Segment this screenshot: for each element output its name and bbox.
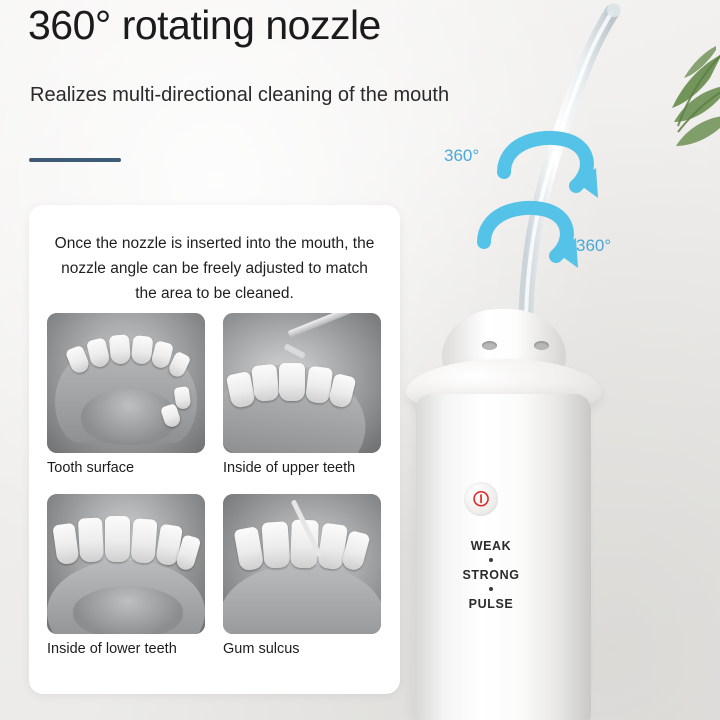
mode-label: WEAK	[436, 539, 546, 553]
power-icon: ⏼	[473, 489, 490, 510]
mode-dot-icon	[489, 587, 493, 591]
power-button[interactable]: ⏼	[464, 482, 498, 516]
thumbnail-caption: Inside of upper teeth	[223, 460, 381, 476]
info-card: Once the nozzle is inserted into the mou…	[29, 205, 400, 694]
mode-pulse[interactable]: PULSE	[436, 597, 546, 611]
mode-label: STRONG	[436, 568, 546, 582]
accent-rule	[29, 158, 121, 162]
card-paragraph: Once the nozzle is inserted into the mou…	[29, 231, 400, 306]
mode-label: PULSE	[436, 597, 546, 611]
thumbnail-grid: Tooth surface Inside of upper teeth	[47, 313, 382, 657]
thumbnail-item: Inside of upper teeth	[223, 313, 381, 476]
rotation-label-top: 360°	[444, 146, 479, 166]
thumbnail-caption: Tooth surface	[47, 460, 205, 476]
water-flosser-device: 360° 360° ⏼ WEAK STRONG PULSE	[398, 0, 720, 720]
thumbnail-item: Tooth surface	[47, 313, 205, 476]
inside-upper-teeth-photo	[223, 313, 381, 453]
page-subheadline: Realizes multi-directional cleaning of t…	[30, 84, 449, 107]
mode-strong[interactable]: STRONG	[436, 568, 546, 591]
product-infographic: 360° rotating nozzle Realizes multi-dire…	[0, 0, 720, 720]
nozzle-port-left	[482, 341, 497, 350]
inside-lower-teeth-photo	[47, 494, 205, 634]
mode-indicator-list: WEAK STRONG PULSE	[436, 539, 546, 617]
gum-sulcus-photo	[223, 494, 381, 634]
mode-dot-icon	[489, 558, 493, 562]
thumbnail-caption: Inside of lower teeth	[47, 641, 205, 657]
thumbnail-item: Gum sulcus	[223, 494, 381, 657]
thumbnail-item: Inside of lower teeth	[47, 494, 205, 657]
tooth-surface-photo	[47, 313, 205, 453]
rotation-label-bottom: 360°	[576, 236, 611, 256]
mode-weak[interactable]: WEAK	[436, 539, 546, 562]
page-headline: 360° rotating nozzle	[28, 2, 381, 49]
nozzle-port-right	[534, 341, 549, 350]
thumbnail-caption: Gum sulcus	[223, 641, 381, 657]
